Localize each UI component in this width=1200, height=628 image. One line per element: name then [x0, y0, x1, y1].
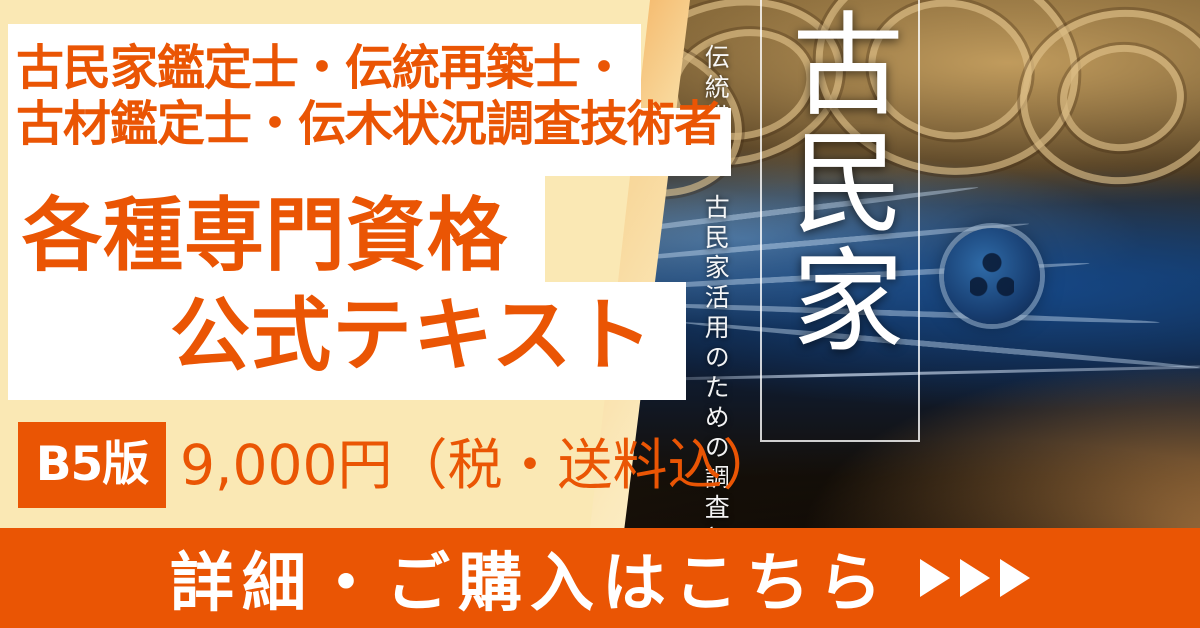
cta-label: 詳細・ご購入はこちら: [170, 532, 890, 624]
cta-button[interactable]: 詳細・ご購入はこちら: [0, 528, 1200, 628]
headline-line-2: 公式テキスト: [170, 296, 654, 376]
chevron-right-icon: [920, 559, 950, 597]
chevron-right-icon-group: [920, 559, 1030, 597]
certifications-line-1: 古民家鑑定士・伝統再築士・: [16, 44, 627, 92]
blue-medallion-crest-decoration: [944, 228, 1040, 324]
chevron-right-icon: [960, 559, 990, 597]
headline-line-1: 各種専門資格: [22, 196, 508, 276]
promo-banner: 伝統構法、古民家活用のための調査と再生の 古民家 古民家鑑定士・伝統再築士・ 古…: [0, 0, 1200, 628]
chevron-right-icon: [1000, 559, 1030, 597]
format-badge-label: B5版: [18, 422, 166, 508]
certifications-line-2: 古材鑑定士・伝木状況調査技術者: [16, 100, 721, 148]
format-badge: B5版: [18, 422, 166, 508]
book-cover-title: 古民家: [778, 6, 904, 360]
price-text: 9,000円（税・送料込）: [180, 424, 777, 506]
